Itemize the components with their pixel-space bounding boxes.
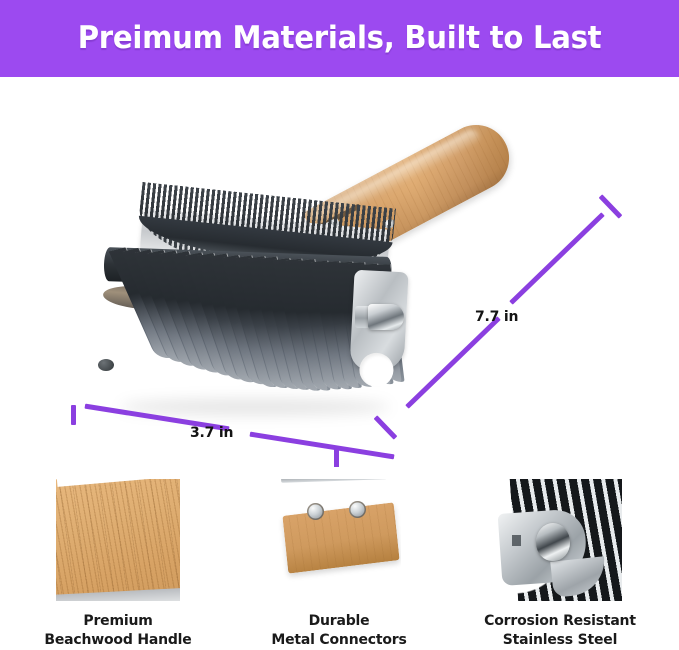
metal-connector-icon: [277, 479, 401, 601]
dimension-width-cap-right: [334, 448, 339, 467]
feature-caption-2-line1: Durable: [234, 612, 444, 631]
connector-rivet-left: [307, 503, 324, 520]
feature-caption-3: Corrosion Resistant Stainless Steel: [455, 612, 665, 650]
feature-caption-3-line1: Corrosion Resistant: [455, 612, 665, 631]
dimension-width-label: 3.7 in: [190, 425, 233, 441]
page-title: Preimum Materials, Built to Last: [78, 23, 602, 54]
pivot-bolt: [368, 304, 404, 330]
metal-top-plate: [281, 479, 387, 483]
steel-stamp-mark: [512, 535, 521, 546]
feature-premium-beachwood-handle: Premium Beachwood Handle: [13, 467, 223, 650]
feature-caption-1-line2: Beachwood Handle: [13, 631, 223, 650]
steel-bolt: [536, 523, 570, 561]
feature-caption-3-line2: Stainless Steel: [455, 631, 665, 650]
connector-rivet-right: [349, 501, 366, 518]
feature-corrosion-resistant-stainless-steel: Corrosion Resistant Stainless Steel: [455, 467, 665, 650]
feature-row: Premium Beachwood Handle Durable Metal C…: [0, 467, 679, 650]
dimension-height-line-upper: [509, 212, 605, 305]
dimension-height-line-lower: [405, 316, 501, 409]
product-drop-shadow: [120, 399, 390, 415]
feature-caption-1: Premium Beachwood Handle: [13, 612, 223, 650]
dimension-height-cap-bottom: [374, 415, 398, 439]
feature-caption-2-line2: Metal Connectors: [234, 631, 444, 650]
stainless-steel-icon: [498, 479, 622, 601]
dimension-width-cap-left: [71, 405, 76, 425]
feature-caption-1-line1: Premium: [13, 612, 223, 631]
wood-block: [282, 502, 399, 573]
feature-caption-2: Durable Metal Connectors: [234, 612, 444, 650]
wood-grain-icon: [56, 479, 180, 601]
left-end-stud: [98, 359, 114, 371]
feature-durable-metal-connectors: Durable Metal Connectors: [234, 467, 444, 650]
dimension-width-line-right: [250, 432, 395, 460]
header-banner: Preimum Materials, Built to Last: [0, 0, 679, 77]
wood-grain-texture: [56, 479, 180, 601]
dimension-height-label: 7.7 in: [475, 309, 518, 325]
product-image: 7.7 in 3.7 in: [0, 77, 679, 467]
